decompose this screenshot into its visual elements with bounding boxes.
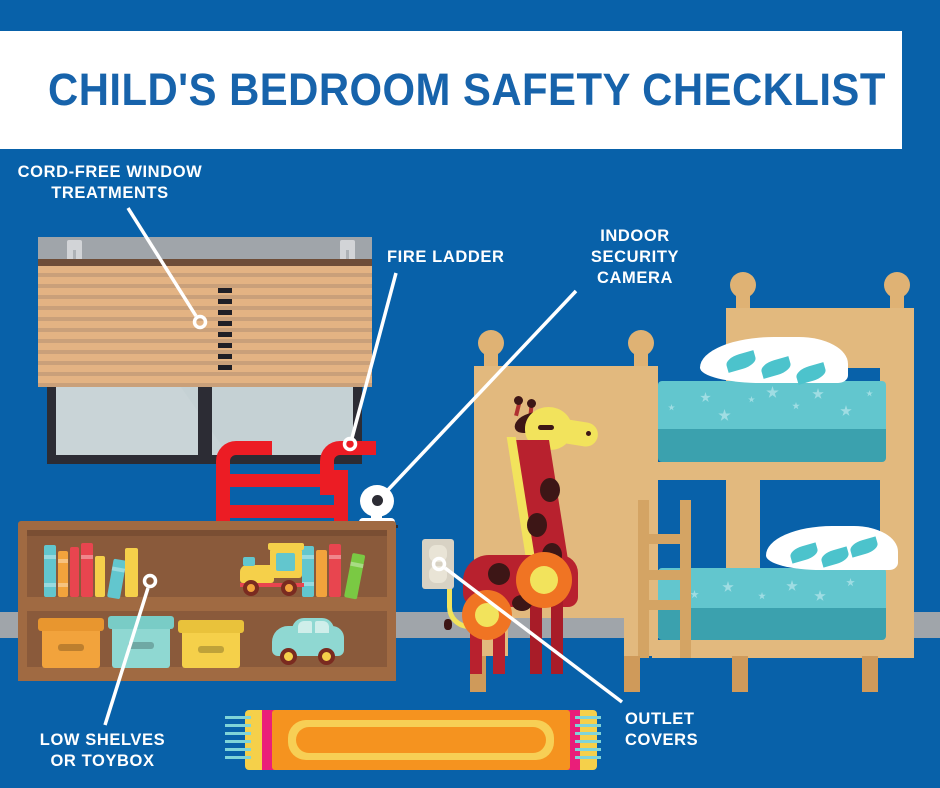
storage-bin-orange <box>42 618 100 668</box>
infographic-canvas: CHILD'S BEDROOM SAFETY CHECKLIST CORD-FR… <box>0 0 940 788</box>
camera-lens-icon <box>369 492 386 509</box>
title-banner: CHILD'S BEDROOM SAFETY CHECKLIST <box>0 31 902 149</box>
storage-bin-yellow <box>182 620 240 668</box>
callout-label-indoor-security-camera: INDOOR SECURITY CAMERA <box>570 226 700 289</box>
page-title: CHILD'S BEDROOM SAFETY CHECKLIST <box>48 64 886 116</box>
storage-bin-teal <box>112 616 170 668</box>
wall-outlet <box>422 539 454 589</box>
callout-label-cord-free-window-treatments: CORD-FREE WINDOW TREATMENTS <box>10 162 210 204</box>
callout-label-low-shelves-or-toybox: LOW SHELVES OR TOYBOX <box>10 730 195 772</box>
curtain-rod <box>38 237 372 259</box>
callout-label-outlet-covers: OUTLET COVERS <box>625 709 765 751</box>
callout-label-fire-ladder: FIRE LADDER <box>387 247 517 268</box>
window-blinds <box>38 266 372 390</box>
